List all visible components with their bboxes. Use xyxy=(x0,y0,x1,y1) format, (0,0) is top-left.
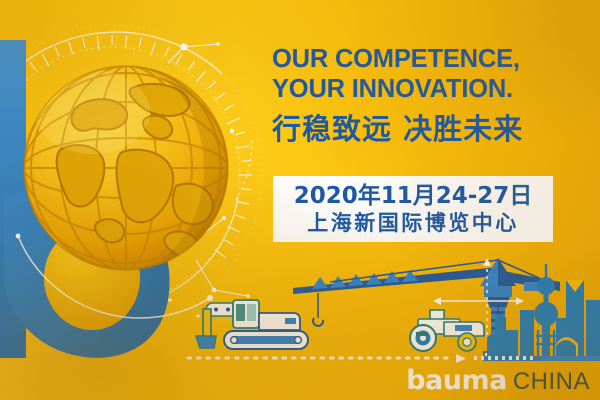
bauma-china-poster: OUR COMPETENCE, YOUR INNOVATION. 行稳致远 决胜… xyxy=(0,0,600,400)
date-venue-box: 2020年11月24-27日 上海新国际博览中心 xyxy=(273,176,553,242)
excavator-icon xyxy=(196,300,308,349)
logo-bauma-text: bauma xyxy=(406,367,507,394)
bauma-china-logo: bauma CHINA xyxy=(406,367,590,394)
headline-line-2: YOUR INNOVATION. xyxy=(272,74,572,104)
road-roller-icon xyxy=(410,310,484,351)
headline-chinese: 行稳致远 决胜未来 xyxy=(272,109,572,149)
event-venue: 上海新国际博览中心 xyxy=(307,210,519,236)
headline-line-1: OUR COMPETENCE, xyxy=(272,44,572,74)
event-date: 2020年11月24-27日 xyxy=(294,183,533,210)
headline-block: OUR COMPETENCE, YOUR INNOVATION. 行稳致远 决胜… xyxy=(272,44,572,149)
logo-china-text: CHINA xyxy=(513,370,590,394)
